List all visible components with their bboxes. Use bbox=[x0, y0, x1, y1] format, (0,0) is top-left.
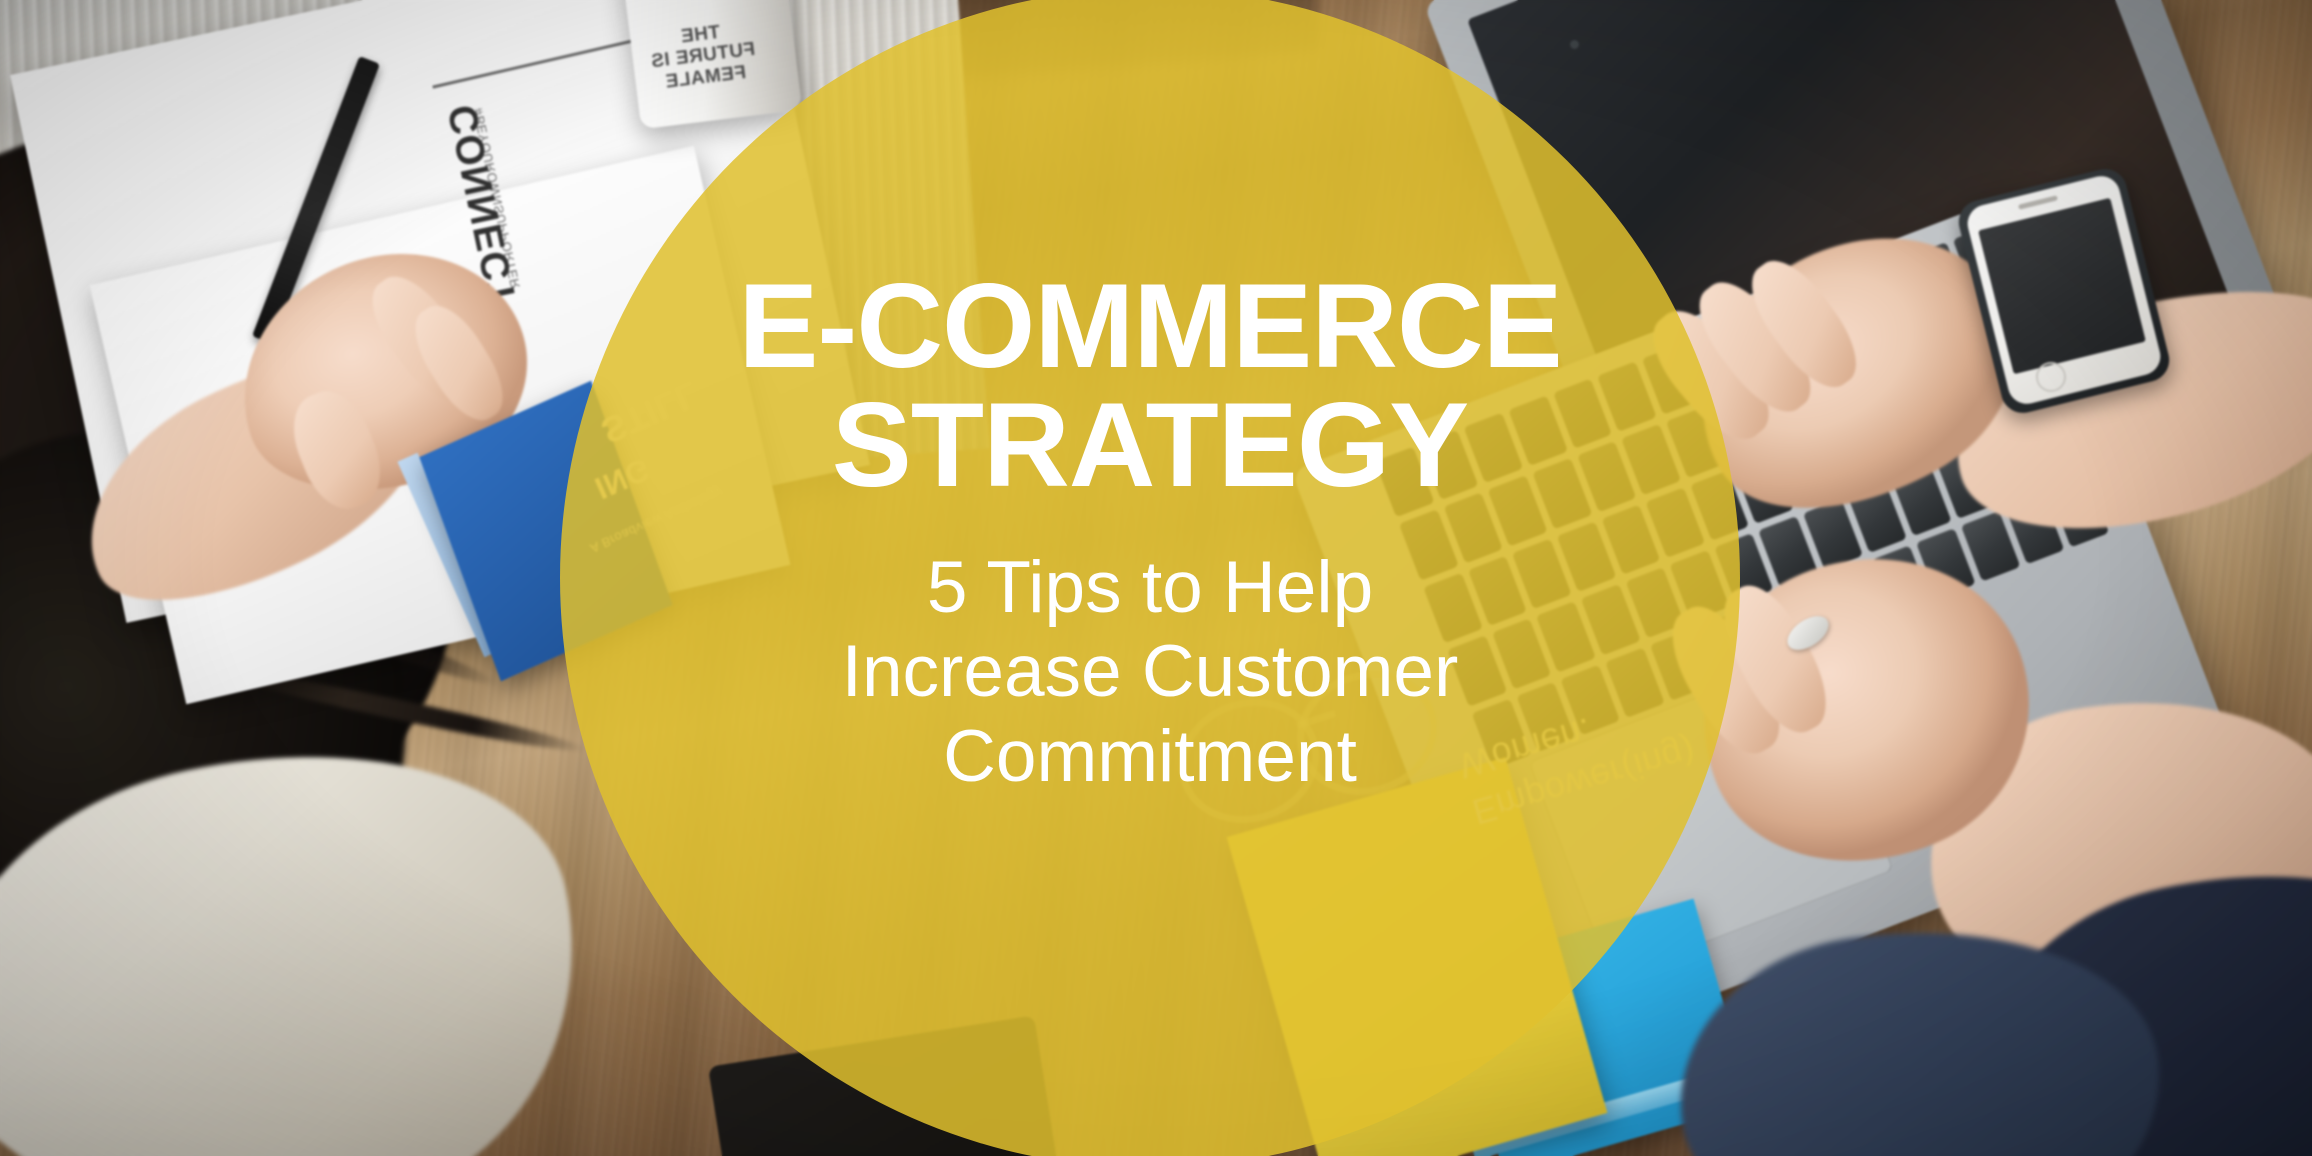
headline-secondary: STRATEGY bbox=[832, 389, 1468, 502]
subheadline-line-1: 5 Tips to Help bbox=[842, 546, 1459, 631]
subheadline-line-2: Increase Customer bbox=[842, 630, 1459, 715]
headline-primary: E-COMMERCE bbox=[738, 270, 1561, 383]
banner-text-block: E-COMMERCE STRATEGY 5 Tips to Help Incre… bbox=[560, 0, 1740, 1156]
subheadline-group: 5 Tips to Help Increase Customer Commitm… bbox=[842, 546, 1459, 800]
promotional-banner: CONNECT #BEYOUROWNSUPPORTER THE FUTURE I… bbox=[0, 0, 2312, 1156]
subheadline-line-3: Commitment bbox=[842, 715, 1459, 800]
